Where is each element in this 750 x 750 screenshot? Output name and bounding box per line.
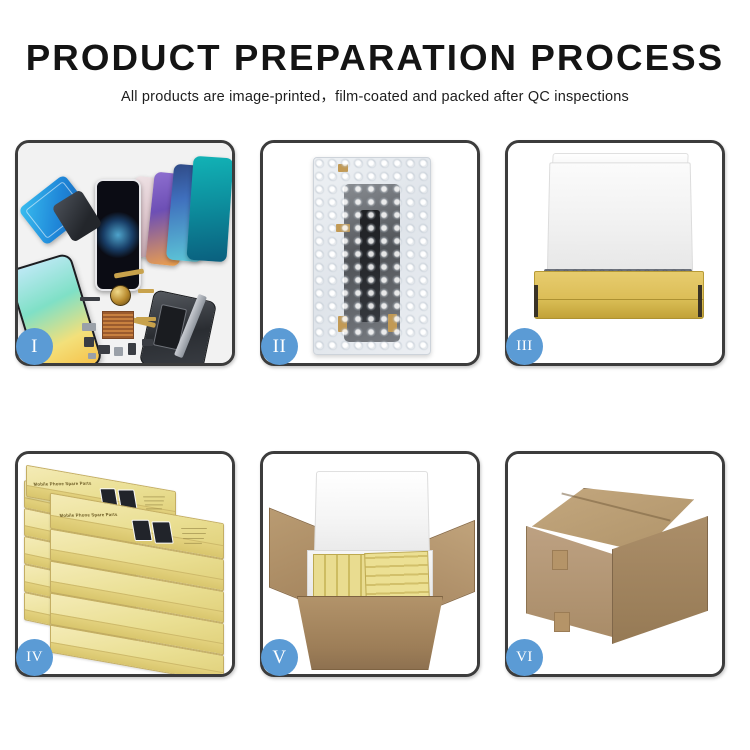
box-phone-image-3 (131, 520, 152, 541)
carton-body (297, 596, 443, 670)
foam-box-lid (314, 471, 430, 559)
step-badge-1: I (16, 328, 53, 365)
tape-lower-right-icon (388, 314, 397, 332)
step-panel-6: VI (505, 451, 725, 677)
carton-tape-upper (552, 550, 568, 570)
part-module-icon (84, 337, 94, 347)
step-image-4: Mobile Phone Spare Parts Mobile Phone Sp… (18, 454, 232, 674)
yellow-boxes-row-2 (364, 551, 430, 603)
step-panel-5: V (260, 451, 480, 677)
foam-lid (547, 162, 694, 286)
step-panel-1: I (15, 140, 235, 366)
step-panel-2: II (260, 140, 480, 366)
box-phone-image-4 (151, 521, 174, 543)
part-vibrator-icon (142, 339, 153, 346)
step-badge-2: II (261, 328, 298, 365)
box-label-lower: Mobile Phone Spare Parts (59, 512, 118, 518)
phone-teal-icon (186, 156, 232, 263)
carton-tape-lower (554, 612, 570, 632)
product-preparation-infographic: PRODUCT PREPARATION PROCESS All products… (0, 0, 750, 750)
box-spec-line-2 (144, 500, 164, 501)
step-image-5 (263, 454, 477, 674)
box-spec-line-1 (143, 496, 165, 497)
part-sim-tray-icon (128, 343, 136, 355)
box-spec-line-7 (183, 538, 204, 539)
carton-left-face (526, 526, 616, 638)
stacked-boxes: Mobile Phone Spare Parts Mobile Phone Sp… (24, 472, 228, 660)
part-connector-icon (138, 289, 154, 293)
yellow-box-front (534, 299, 704, 319)
spare-parts-cluster (80, 283, 176, 363)
step-panel-4: Mobile Phone Spare Parts Mobile Phone Sp… (15, 451, 235, 677)
box-edge-right (698, 285, 702, 317)
box-spec-line-6 (182, 533, 206, 534)
step-badge-5: V (261, 639, 298, 676)
header: PRODUCT PREPARATION PROCESS All products… (0, 38, 750, 106)
step-badge-6: VI (506, 639, 543, 676)
box-label-upper: Mobile Phone Spare Parts (33, 481, 92, 487)
box-edge-left (534, 285, 538, 317)
phone-products-illustration (18, 143, 232, 363)
step-badge-3: III (506, 328, 543, 365)
part-ribbon-icon (136, 317, 156, 321)
step-image-2 (263, 143, 477, 363)
page-subtitle: All products are image-printed，film-coat… (0, 85, 750, 106)
tape-top-icon (338, 164, 348, 172)
box-spec-line-3 (145, 504, 163, 505)
step-panel-3: III (505, 140, 725, 366)
part-screw-icon (88, 353, 96, 359)
tape-lower-left-icon (338, 316, 347, 332)
camera-lens-icon (110, 285, 131, 306)
part-speaker-icon (98, 345, 110, 354)
part-chip-icon (80, 297, 100, 301)
step-image-3 (508, 143, 722, 363)
tape-mid-icon (336, 224, 350, 232)
bubble-wrap-bag (313, 157, 431, 355)
box-spec-line-8 (184, 543, 202, 544)
step-image-6 (508, 454, 722, 674)
step-image-1 (18, 143, 232, 363)
wrapped-part-core (360, 210, 380, 322)
page-title: PRODUCT PREPARATION PROCESS (0, 38, 750, 78)
step-badge-4: IV (16, 639, 53, 676)
process-steps-grid: I II (15, 140, 735, 677)
box-spec-line-5 (181, 528, 207, 529)
part-button-icon (114, 347, 123, 356)
part-bracket-icon (82, 323, 96, 331)
logic-board-icon (102, 311, 134, 339)
